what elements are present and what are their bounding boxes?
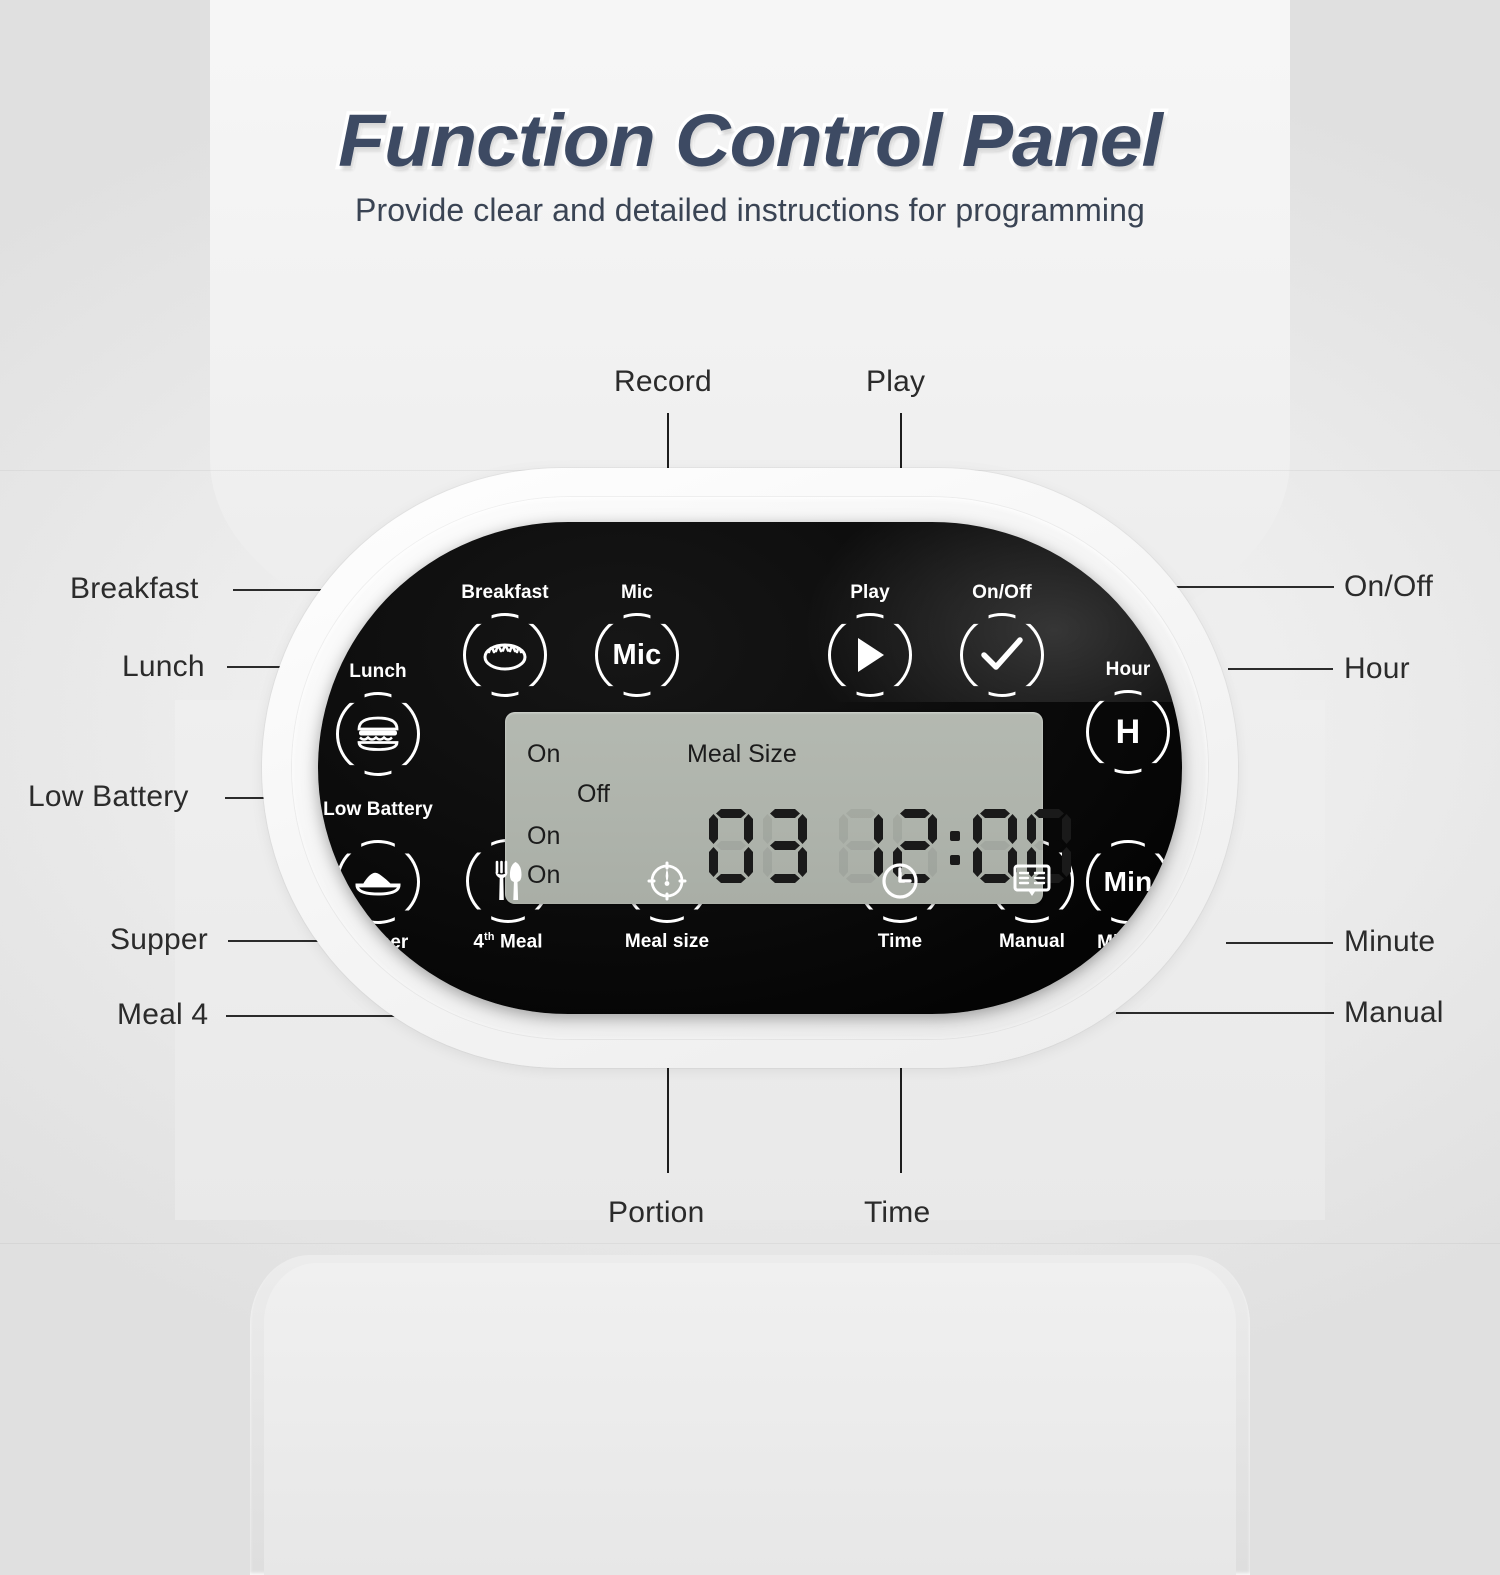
annotation-record: Record [614,365,712,399]
lcd-portion-value [709,809,807,883]
annotation-on-off: On/Off [1344,570,1433,604]
clock-icon [878,859,922,903]
lunch-button-label: Lunch [318,661,445,683]
hour-button-label: Hour [1061,659,1182,681]
meal4-number: 4 [473,931,484,952]
time-button-label: Time [833,931,967,953]
body-seam-line [0,1243,1500,1244]
lcd-status-lunch: Off [577,780,610,809]
onoff-button[interactable] [960,613,1044,697]
mic-button[interactable]: Mic [595,613,679,697]
meal4-button-label: 4th Meal [441,931,575,953]
seg-digit-1 [839,809,883,883]
bread-icon [481,638,529,672]
annotation-time-bottom: Time [864,1196,930,1230]
meal4-word: Meal [500,931,543,952]
lunch-button[interactable] [336,692,420,776]
seg-digit-3 [763,809,807,883]
plate-food-icon [353,865,403,899]
lcd-status-meal4: On [527,861,560,890]
annotation-hour: Hour [1344,652,1410,686]
leader-line-minute [1226,942,1333,944]
fork-knife-icon [490,860,526,902]
lcd-colon [947,809,963,883]
annotation-portion: Portion [608,1196,704,1230]
check-icon [979,636,1025,674]
manual-button-label: Manual [965,931,1099,953]
leader-line-hour [1228,668,1333,670]
mealsize-button-label: Meal size [600,931,734,953]
annotation-low-battery: Low Battery [28,780,189,814]
burger-icon [355,716,401,752]
page-subtitle: Provide clear and detailed instructions … [0,192,1500,229]
annotation-lunch: Lunch [122,650,205,684]
low-battery-indicator: Low Battery [318,799,451,821]
annotation-play-top: Play [866,365,925,399]
annotation-minute: Minute [1344,925,1435,959]
breakfast-button[interactable] [463,613,547,697]
page-title: Function Control Panel [0,98,1500,183]
lcd-status-breakfast: On [527,740,560,769]
hour-icon: H [1116,715,1141,749]
annotation-meal-4: Meal 4 [117,998,208,1032]
hour-button[interactable]: H [1086,690,1170,774]
play-button-label: Play [803,582,937,604]
lcd-status-dinner: On [527,822,560,851]
lcd-display: On Off On On Meal Size [505,712,1043,904]
minute-icon: Min [1104,868,1153,896]
meal4-ordinal-suffix: th [484,931,495,943]
annotation-supper: Supper [110,923,208,957]
lcd-meal-size-label: Meal Size [687,740,797,769]
mic-icon: Mic [613,641,662,670]
manual-card-icon [1010,862,1054,900]
play-button[interactable] [828,613,912,697]
dinner-button[interactable] [336,840,420,924]
annotation-breakfast: Breakfast [70,572,199,606]
seg-digit-0 [709,809,753,883]
gauge-icon [645,859,689,903]
minute-button[interactable]: Min [1086,840,1170,924]
annotation-manual: Manual [1344,996,1444,1030]
dinner-button-label: Dinner [318,932,445,954]
onoff-button-label: On/Off [935,582,1069,604]
mic-button-label: Mic [570,582,704,604]
play-triangle-icon [852,635,888,675]
feeder-base [250,1255,1250,1575]
leader-line-manual [1116,1012,1334,1014]
breakfast-button-label: Breakfast [438,582,572,604]
